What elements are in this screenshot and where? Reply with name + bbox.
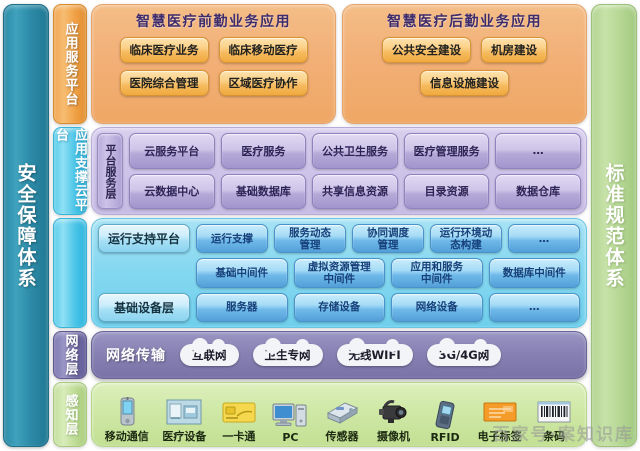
app-item-data-center-room-construction[interactable]: 机房建设 <box>481 37 547 63</box>
layer-tag-sensing-label: 感知层 <box>61 394 80 436</box>
device-medical-equipment[interactable]: 医疗设备 <box>162 397 206 444</box>
runtime-row-3: 基础设备层 服务器 存储设备 网络设备 … <box>98 293 580 322</box>
app-item-public-security-construction[interactable]: 公共安全建设 <box>382 37 471 63</box>
medical-equipment-icon <box>165 397 203 427</box>
runtime-row-2-spacer <box>98 258 190 287</box>
layer-tag-network: 网络层 <box>53 331 87 379</box>
layer-tag-support-cloud: 应用支撑云平台 <box>53 127 87 215</box>
layer-tag-support-cloud-label: 应用支撑云平台 <box>51 128 89 214</box>
runtime-item-collaborative-scheduling-management[interactable]: 协同调度管理 <box>352 224 424 253</box>
runtime-support-panel: 运行支持平台 运行支撑 服务动态管理 协同调度管理 运行环境动态构建 … 基础中… <box>91 218 587 328</box>
platform-item-basic-database[interactable]: 基础数据库 <box>221 174 307 210</box>
app-item-clinical-medical-business[interactable]: 临床医疗业务 <box>120 37 209 63</box>
platform-service-panel: 平台服务层 云服务平台 医疗服务 公共卫生服务 医疗管理服务 … 云数据中心 基… <box>91 127 587 215</box>
panel-front-office-items: 临床医疗业务 临床移动医疗 医院综合管理 区域医疗协作 <box>100 37 327 96</box>
device-rfid[interactable]: RFID <box>426 400 464 444</box>
device-video-camera[interactable]: 摄像机 <box>375 397 413 444</box>
video-camera-icon <box>375 397 413 427</box>
application-panels: 智慧医疗前勤业务应用 临床医疗业务 临床移动医疗 医院综合管理 区域医疗协作 智… <box>91 4 587 124</box>
panel-front-office-title: 智慧医疗前勤业务应用 <box>136 11 291 31</box>
network-cloud-3g-4g[interactable]: 3G/4G网 <box>427 344 502 366</box>
runtime-row-1: 运行支持平台 运行支撑 服务动态管理 协同调度管理 运行环境动态构建 … <box>98 224 580 253</box>
panel-back-office-title: 智慧医疗后勤业务应用 <box>387 11 542 31</box>
device-label-video-camera: 摄像机 <box>377 428 410 444</box>
runtime-item-service-dynamic-management[interactable]: 服务动态管理 <box>274 224 346 253</box>
app-item-regional-medical-collaboration[interactable]: 区域医疗协作 <box>219 70 308 96</box>
platform-item-medical-service[interactable]: 医疗服务 <box>221 133 307 169</box>
platform-item-medical-management-service[interactable]: 医疗管理服务 <box>404 133 490 169</box>
middleware-item-application-and-service-middleware[interactable]: 应用和服务中间件 <box>391 258 483 287</box>
layer-tag-application-service-label: 应用服务平台 <box>61 22 80 106</box>
layers-column: 应用服务平台 智慧医疗前勤业务应用 临床医疗业务 临床移动医疗 医院综合管理 区… <box>53 4 587 447</box>
device-label-rfid: RFID <box>430 431 459 444</box>
pillar-right-label: 标准规范体系 <box>601 163 628 289</box>
sensing-layer-row: 感知层 移动通信 <box>53 382 587 447</box>
runtime-label-operation-support-platform: 运行支持平台 <box>98 224 190 253</box>
platform-service-grid: 云服务平台 医疗服务 公共卫生服务 医疗管理服务 … 云数据中心 基础数据库 共… <box>129 133 581 209</box>
device-label-mobile-communication: 移动通信 <box>105 428 149 444</box>
device-sensor[interactable]: 传感器 <box>323 397 361 444</box>
middleware-item-database-middleware[interactable]: 数据库中间件 <box>489 258 581 287</box>
inner-tag-platform-service-label: 平台服务层 <box>102 144 118 199</box>
sensor-icon <box>323 397 361 427</box>
pillar-left-label: 安全保障体系 <box>13 163 40 289</box>
device-electronic-tag[interactable]: 电子标签 <box>478 397 522 444</box>
network-cloud-health-private-network[interactable]: 卫生专网 <box>253 344 323 366</box>
runtime-label-infrastructure-layer: 基础设备层 <box>98 293 190 322</box>
platform-service-row: 应用支撑云平台 平台服务层 云服务平台 医疗服务 公共卫生服务 医疗管理服务 …… <box>53 127 587 215</box>
platform-item-cloud-data-center[interactable]: 云数据中心 <box>129 174 215 210</box>
panel-back-office-applications: 智慧医疗后勤业务应用 公共安全建设 机房建设 信息设施建设 <box>342 4 587 124</box>
network-transmission-label: 网络传输 <box>106 345 166 365</box>
pillar-standards-specifications: 标准规范体系 <box>591 4 637 447</box>
infrastructure-item-server[interactable]: 服务器 <box>196 293 288 322</box>
barcode-icon <box>535 397 573 427</box>
app-item-clinical-mobile-medical[interactable]: 临床移动医疗 <box>219 37 308 63</box>
platform-item-shared-information-resources[interactable]: 共享信息资源 <box>312 174 398 210</box>
electronic-tag-icon <box>481 397 519 427</box>
inner-tag-platform-service: 平台服务层 <box>97 133 123 209</box>
desktop-computer-icon <box>271 400 309 430</box>
device-label-sensor: 传感器 <box>325 428 358 444</box>
platform-item-cloud-service-platform[interactable]: 云服务平台 <box>129 133 215 169</box>
layer-tag-support-cloud-continued <box>53 218 87 328</box>
platform-item-public-health-service[interactable]: 公共卫生服务 <box>312 133 398 169</box>
device-smart-card[interactable]: 一卡通 <box>220 397 258 444</box>
middleware-item-basic-middleware[interactable]: 基础中间件 <box>196 258 288 287</box>
platform-item-more-1[interactable]: … <box>495 133 581 169</box>
platform-item-directory-resources[interactable]: 目录资源 <box>404 174 490 210</box>
platform-service-row-1: 云服务平台 医疗服务 公共卫生服务 医疗管理服务 … <box>129 133 581 169</box>
panel-front-office-applications: 智慧医疗前勤业务应用 临床医疗业务 临床移动医疗 医院综合管理 区域医疗协作 <box>91 4 336 124</box>
middleware-item-virtual-resource-management-middleware[interactable]: 虚拟资源管理中间件 <box>294 258 386 287</box>
infrastructure-item-storage-device[interactable]: 存储设备 <box>294 293 386 322</box>
layer-tag-application-service: 应用服务平台 <box>53 4 87 124</box>
device-pc[interactable]: PC <box>271 400 309 444</box>
network-cloud-internet[interactable]: 互联网 <box>180 344 239 366</box>
infrastructure-item-more-2[interactable]: … <box>489 293 581 322</box>
network-cloud-wireless-wifi[interactable]: 无线WIFI <box>337 344 413 366</box>
device-label-medical-equipment: 医疗设备 <box>162 428 206 444</box>
device-label-barcode: 条码 <box>543 428 565 444</box>
device-label-all-in-one-card: 一卡通 <box>222 428 255 444</box>
infrastructure-item-network-device[interactable]: 网络设备 <box>391 293 483 322</box>
layer-tag-sensing: 感知层 <box>53 382 87 447</box>
runtime-row-2: 基础中间件 虚拟资源管理中间件 应用和服务中间件 数据库中间件 <box>98 258 580 287</box>
device-label-electronic-tag: 电子标签 <box>478 428 522 444</box>
app-item-hospital-integrated-management[interactable]: 医院综合管理 <box>120 70 209 96</box>
smart-card-icon <box>220 397 258 427</box>
panel-back-office-items: 公共安全建设 机房建设 信息设施建设 <box>351 37 578 96</box>
network-transmission-band: 网络传输 互联网 卫生专网 无线WIFI 3G/4G网 <box>91 331 587 379</box>
platform-service-row-2: 云数据中心 基础数据库 共享信息资源 目录资源 数据仓库 <box>129 174 581 210</box>
runtime-item-more-1[interactable]: … <box>508 224 580 253</box>
application-service-layer: 应用服务平台 智慧医疗前勤业务应用 临床医疗业务 临床移动医疗 医院综合管理 区… <box>53 4 587 124</box>
device-barcode[interactable]: 条码 <box>535 397 573 444</box>
layer-tag-network-label: 网络层 <box>61 334 80 376</box>
pillar-security-assurance: 安全保障体系 <box>3 4 49 447</box>
architecture-diagram: 安全保障体系 应用服务平台 智慧医疗前勤业务应用 临床医疗业务 临床移动医疗 医… <box>0 0 640 451</box>
device-label-pc: PC <box>282 431 298 444</box>
mobile-phone-icon <box>108 397 146 427</box>
runtime-item-runtime-environment-dynamic-construction[interactable]: 运行环境动态构建 <box>430 224 502 253</box>
runtime-support-row: 运行支持平台 运行支撑 服务动态管理 协同调度管理 运行环境动态构建 … 基础中… <box>53 218 587 328</box>
rfid-reader-icon <box>426 400 464 430</box>
runtime-item-operation-support[interactable]: 运行支撑 <box>196 224 268 253</box>
network-layer-row: 网络层 网络传输 互联网 卫生专网 无线WIFI 3G/4G网 <box>53 331 587 379</box>
app-item-information-facility-construction[interactable]: 信息设施建设 <box>420 70 509 96</box>
device-mobile-communication[interactable]: 移动通信 <box>105 397 149 444</box>
platform-item-data-warehouse[interactable]: 数据仓库 <box>495 174 581 210</box>
sensing-devices-band: 移动通信 医疗设备 <box>91 382 587 447</box>
